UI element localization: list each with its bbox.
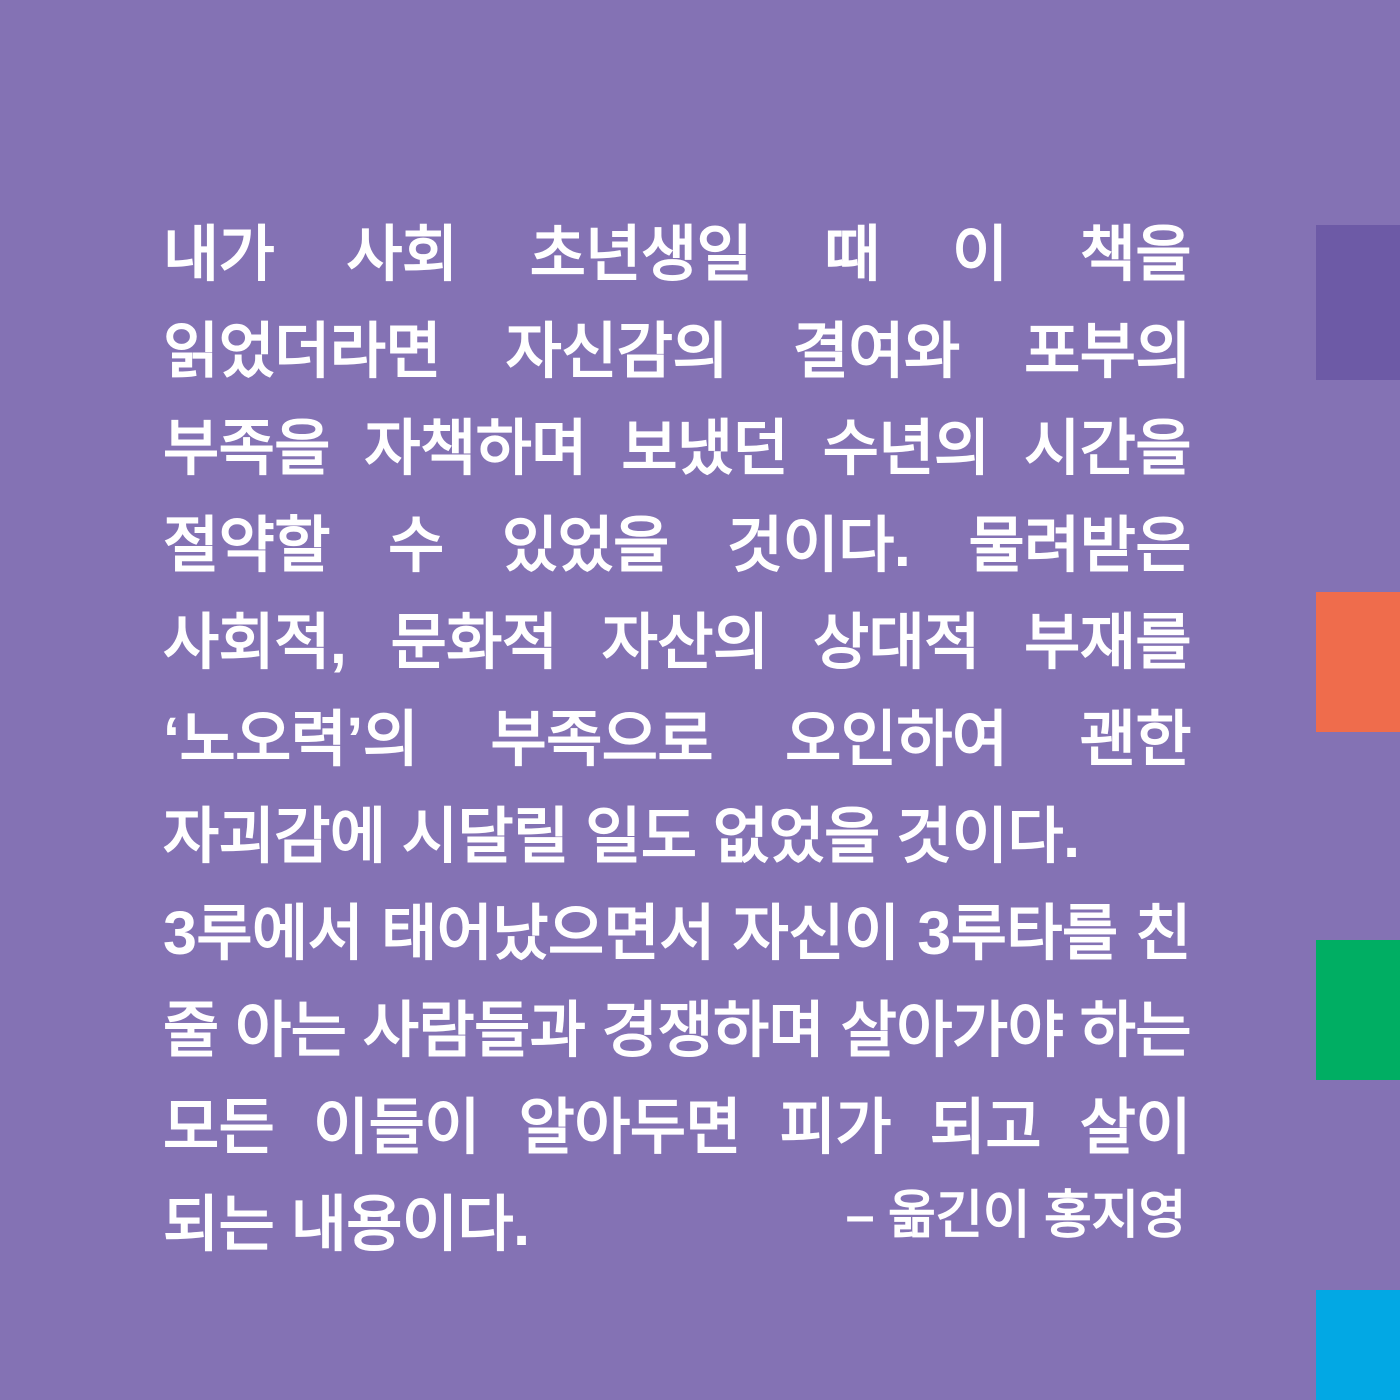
quote-paragraph-1: 내가 사회 초년생일 때 이 책을 읽었더라면 자신감의 결여와 포부의 부족을… <box>163 206 1191 885</box>
decor-block-green <box>1316 940 1400 1080</box>
attribution-line: – 옮긴이 홍지영 <box>586 1182 1186 1250</box>
decor-block-orange <box>1316 592 1400 732</box>
decor-block-blue <box>1316 1290 1400 1400</box>
quote-card: 내가 사회 초년생일 때 이 책을 읽었더라면 자신감의 결여와 포부의 부족을… <box>0 0 1400 1400</box>
quote-text-block: 내가 사회 초년생일 때 이 책을 읽었더라면 자신감의 결여와 포부의 부족을… <box>163 206 1191 1273</box>
decor-block-purple <box>1316 225 1400 380</box>
